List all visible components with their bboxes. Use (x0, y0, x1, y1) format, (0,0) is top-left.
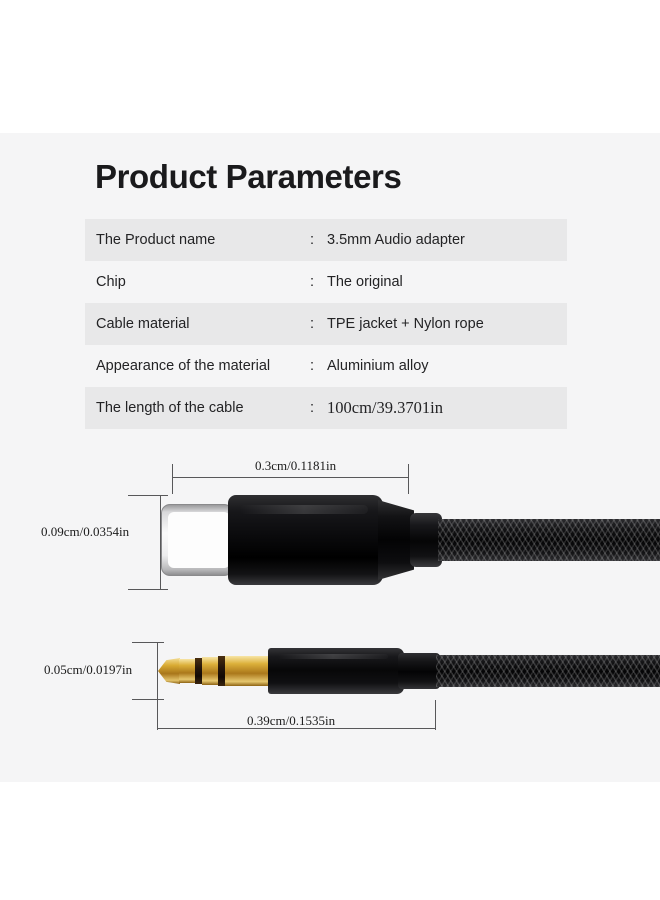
spec-label: Cable material (96, 316, 190, 332)
usbc-metal-tip (161, 504, 233, 576)
spec-separator: : (310, 358, 314, 374)
usbc-height-label: 0.09cm/0.0354in (41, 524, 129, 540)
spec-separator: : (310, 274, 314, 290)
jack-gold-sleeve (225, 656, 271, 686)
usbc-braided-cable (438, 519, 660, 561)
usbc-tip-inner (168, 512, 230, 568)
page-title: Product Parameters (95, 160, 401, 193)
table-row: Appearance of the material : Aluminium a… (85, 345, 567, 387)
jack-width-label: 0.39cm/0.1535in (247, 713, 335, 729)
spec-value: TPE jacket + Nylon rope (327, 316, 484, 332)
spec-label: The Product name (96, 232, 215, 248)
jack-housing (268, 648, 404, 694)
spec-label: The length of the cable (96, 400, 244, 416)
spec-value: 3.5mm Audio adapter (327, 232, 465, 248)
usbc-housing (228, 495, 383, 585)
spec-label: Appearance of the material (96, 358, 270, 374)
jack-height-tick-top (132, 642, 164, 643)
jack-housing-highlight (278, 654, 388, 659)
spec-value: The original (327, 274, 403, 290)
jack-gold-segment (202, 657, 219, 685)
usbc-width-tick-right (408, 464, 409, 494)
usbc-width-dimension-line (172, 477, 408, 478)
spec-separator: : (310, 316, 314, 332)
usbc-width-tick-left (172, 464, 173, 494)
table-row: Chip : The original (85, 261, 567, 303)
jack-height-label: 0.05cm/0.0197in (44, 662, 132, 678)
usbc-housing-highlight (240, 505, 368, 514)
jack-width-tick-left (157, 700, 158, 730)
product-parameters-page: Product Parameters The Product name : 3.… (0, 0, 660, 900)
table-row: The length of the cable : 100cm/39.3701i… (85, 387, 567, 429)
spec-separator: : (310, 400, 314, 416)
spec-label: Chip (96, 274, 126, 290)
table-row: Cable material : TPE jacket + Nylon rope (85, 303, 567, 345)
jack-height-tick-bottom (132, 699, 164, 700)
jack-width-tick-right (435, 700, 436, 730)
table-row: The Product name : 3.5mm Audio adapter (85, 219, 567, 261)
jack-height-dimension-line (157, 642, 158, 700)
jack-gold-segment (179, 659, 196, 683)
jack-strain-relief (398, 653, 440, 689)
usbc-height-tick-bottom (128, 589, 168, 590)
spec-value: 100cm/39.3701in (327, 398, 443, 418)
spec-value: Aluminium alloy (327, 358, 429, 374)
spec-separator: : (310, 232, 314, 248)
usbc-height-tick-top (128, 495, 168, 496)
usbc-taper (378, 500, 414, 580)
jack-braided-cable (436, 655, 660, 687)
usbc-width-label: 0.3cm/0.1181in (255, 458, 336, 474)
spec-table: The Product name : 3.5mm Audio adapter C… (85, 219, 567, 429)
